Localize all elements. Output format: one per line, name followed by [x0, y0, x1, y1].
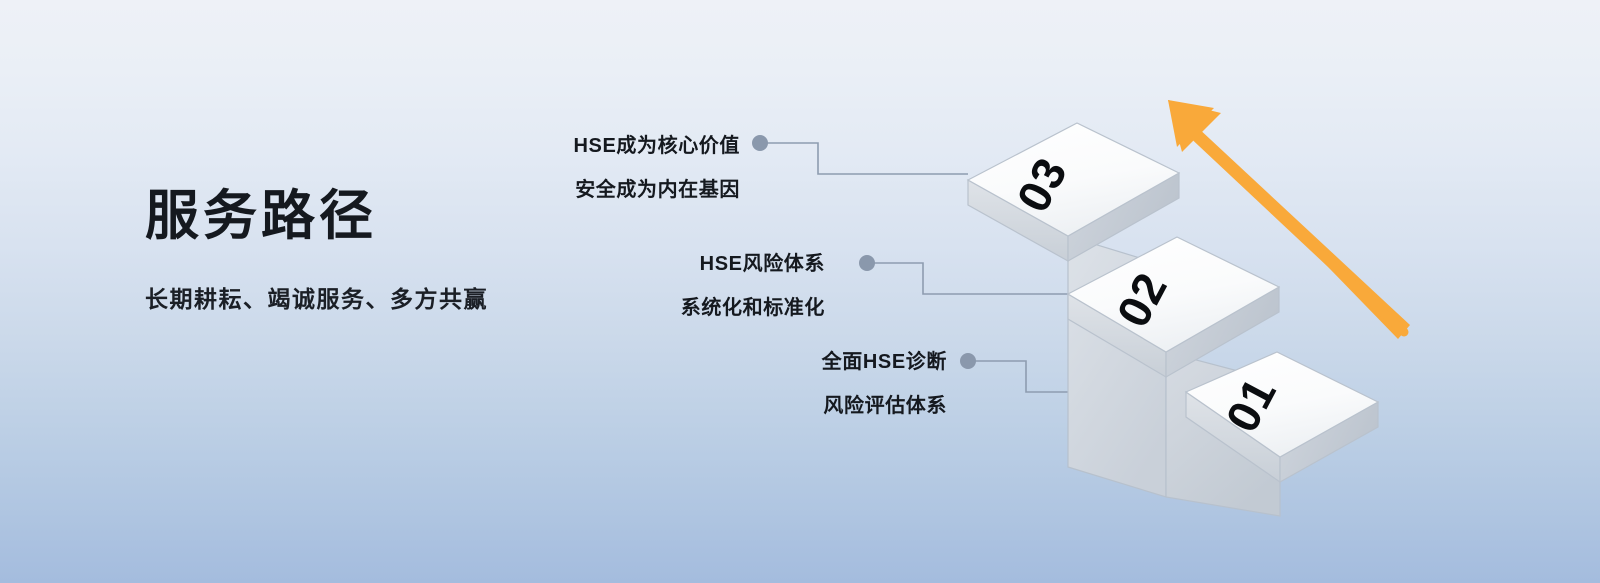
connector-dot-step-03: [752, 135, 768, 151]
connector-dot-step-01: [960, 353, 976, 369]
connector-dot-step-02: [859, 255, 875, 271]
connector-step-02: [859, 255, 1068, 294]
step-block-03: 03: [968, 123, 1179, 261]
infographic-canvas: 服务路径 长期耕耘、竭诚服务、多方共赢 HSE成为核心价值 安全成为内在基因 H…: [0, 0, 1600, 583]
staircase-illustration: 03 02 01: [0, 0, 1600, 583]
connector-step-03: [752, 135, 968, 174]
